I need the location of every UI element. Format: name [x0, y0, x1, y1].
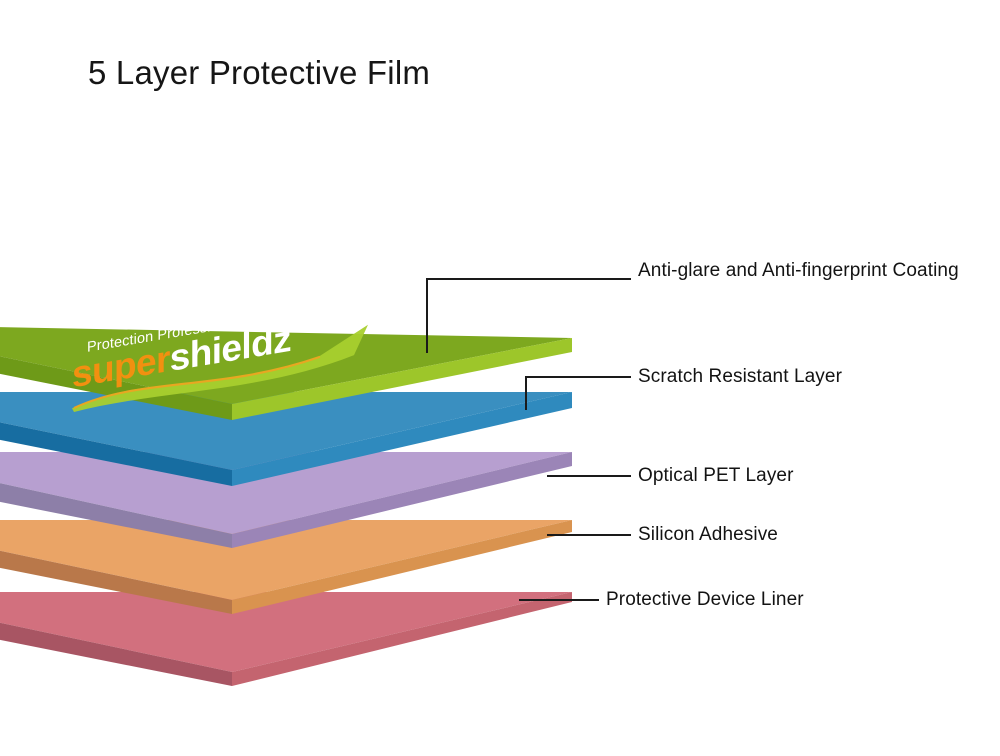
callout-label-scratch-resistant-layer: Scratch Resistant Layer	[638, 366, 842, 388]
callout-label-optical-pet-layer: Optical PET Layer	[638, 465, 794, 487]
callout-label-silicon-adhesive: Silicon Adhesive	[638, 524, 778, 546]
layer-stack-diagram	[0, 0, 1000, 756]
callout-label-protective-device-liner: Protective Device Liner	[606, 589, 804, 611]
slide-canvas: 5 Layer Protective Film	[0, 0, 1000, 756]
layer-slab-protective-device-liner	[0, 592, 572, 686]
callout-label-anti-glare-coating: Anti-glare and Anti-fingerprint Coating	[638, 260, 959, 282]
